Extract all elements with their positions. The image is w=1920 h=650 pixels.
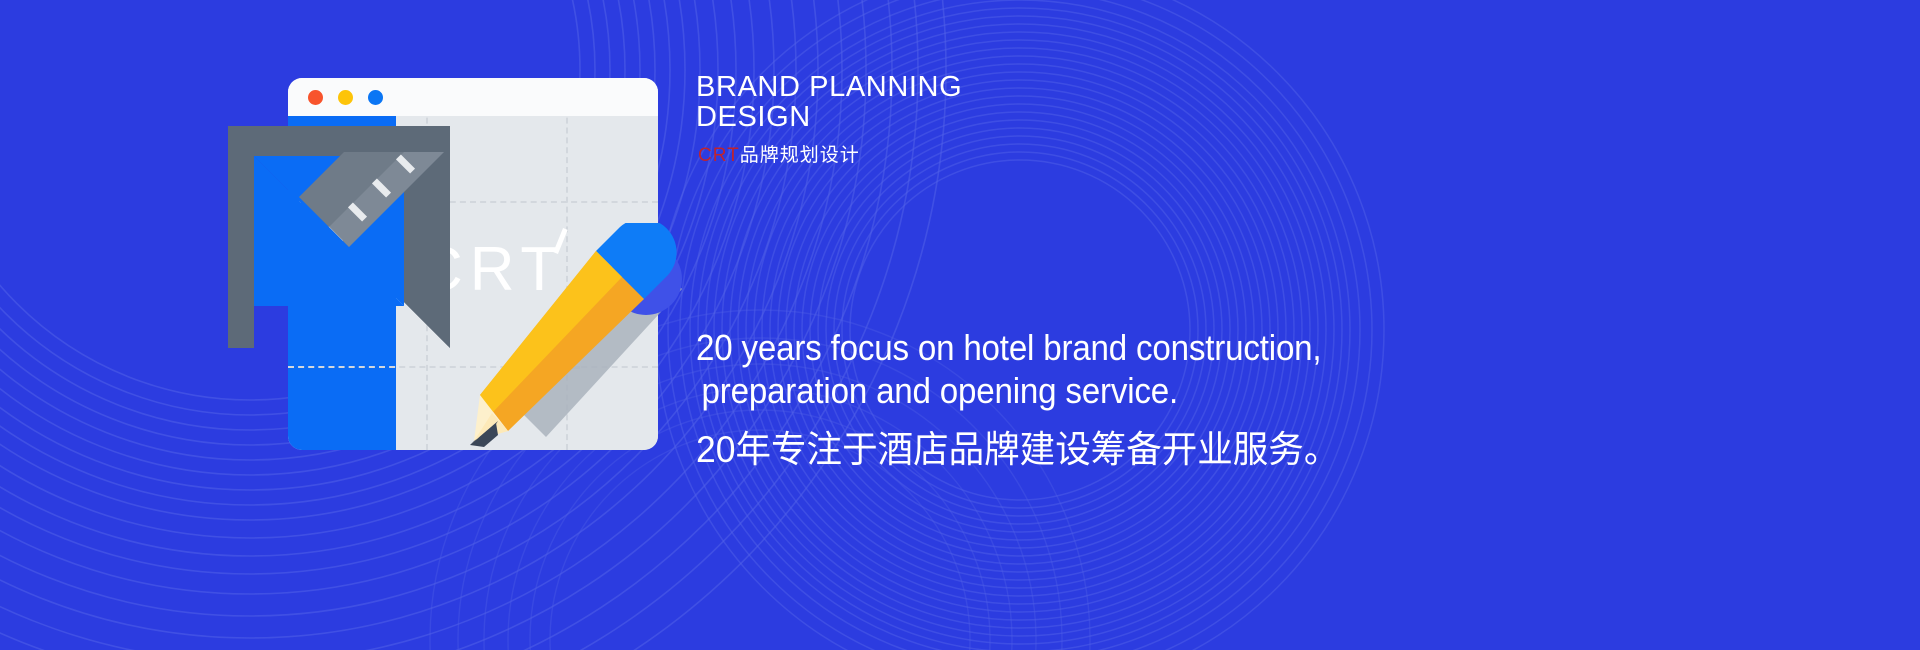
- minimize-dot-icon[interactable]: [338, 90, 353, 105]
- window-title-bar: [288, 78, 658, 116]
- tagline-chinese: 20年专注于酒店品牌建设筹备开业服务。: [696, 428, 1656, 472]
- tagline-en-line-2: preparation and opening service.: [696, 369, 1616, 412]
- pencil-icon: [468, 223, 688, 453]
- tagline-block: 20 years focus on hotel brand constructi…: [696, 326, 1696, 473]
- kicker-line-2: DESIGN: [696, 102, 1316, 132]
- tagline-english: 20 years focus on hotel brand constructi…: [696, 326, 1616, 412]
- subtitle-chinese-text: 品牌规划设计: [740, 145, 860, 166]
- maximize-dot-icon[interactable]: [368, 90, 383, 105]
- brand-mark-crt: CRT: [698, 145, 740, 166]
- kicker-line-1: BRAND PLANNING: [696, 71, 962, 103]
- tagline-en-line-1: 20 years focus on hotel brand constructi…: [696, 327, 1321, 368]
- triangle-ruler: [228, 126, 450, 348]
- close-dot-icon[interactable]: [308, 90, 323, 105]
- subtitle-chinese: CRT品牌规划设计: [698, 140, 860, 167]
- kicker-heading: BRAND PLANNING DESIGN: [696, 72, 1316, 132]
- brand-banner: CRT: [0, 0, 1920, 650]
- copy-column: BRAND PLANNING DESIGN CRT品牌规划设计 20 years…: [696, 0, 1796, 650]
- brand-design-illustration: CRT: [228, 78, 688, 468]
